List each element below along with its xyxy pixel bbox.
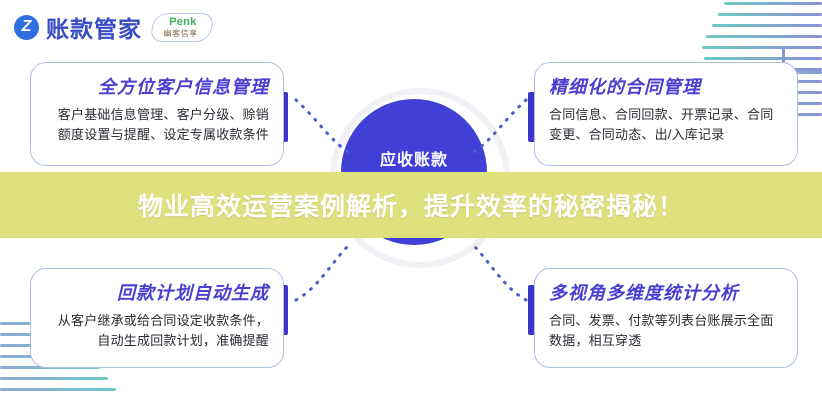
card-desc-customer-info: 客户基础信息管理、客户分级、赊销额度设置与提醒、设定专属收款条件 bbox=[45, 105, 269, 145]
overlay-banner: 物业高效运营案例解析，提升效率的秘密揭秘！ bbox=[0, 172, 822, 238]
card-customer-info: 全方位客户信息管理 客户基础信息管理、客户分级、赊销额度设置与提醒、设定专属收款… bbox=[30, 62, 284, 166]
card-desc-statistics: 合同、发票、付款等列表台账展示全面数据，相互穿透 bbox=[549, 311, 783, 351]
infographic-canvas: Z 账款管家 Penk 幽客信享 应收账款 一体化管理 全方位客户信息管理 客户… bbox=[0, 0, 822, 400]
overlay-banner-text: 物业高效运营案例解析，提升效率的秘密揭秘！ bbox=[138, 187, 684, 223]
card-desc-contract-mgmt: 合同信息、合同回款、开票记录、合同变更、合同动态、出/入库记录 bbox=[549, 105, 783, 145]
card-contract-mgmt: 精细化的合同管理 合同信息、合同回款、开票记录、合同变更、合同动态、出/入库记录 bbox=[534, 62, 798, 166]
card-title-statistics: 多视角多维度统计分析 bbox=[549, 279, 783, 305]
card-title-customer-info: 全方位客户信息管理 bbox=[45, 73, 269, 99]
card-repayment-plan: 回款计划自动生成 从客户继承或给合同设定收款条件，自动生成回款计划，准确提醒 bbox=[30, 268, 284, 368]
card-statistics: 多视角多维度统计分析 合同、发票、付款等列表台账展示全面数据，相互穿透 bbox=[534, 268, 798, 368]
card-title-repayment-plan: 回款计划自动生成 bbox=[45, 279, 269, 305]
card-title-contract-mgmt: 精细化的合同管理 bbox=[549, 73, 783, 99]
card-desc-repayment-plan: 从客户继承或给合同设定收款条件，自动生成回款计划，准确提醒 bbox=[45, 311, 269, 351]
